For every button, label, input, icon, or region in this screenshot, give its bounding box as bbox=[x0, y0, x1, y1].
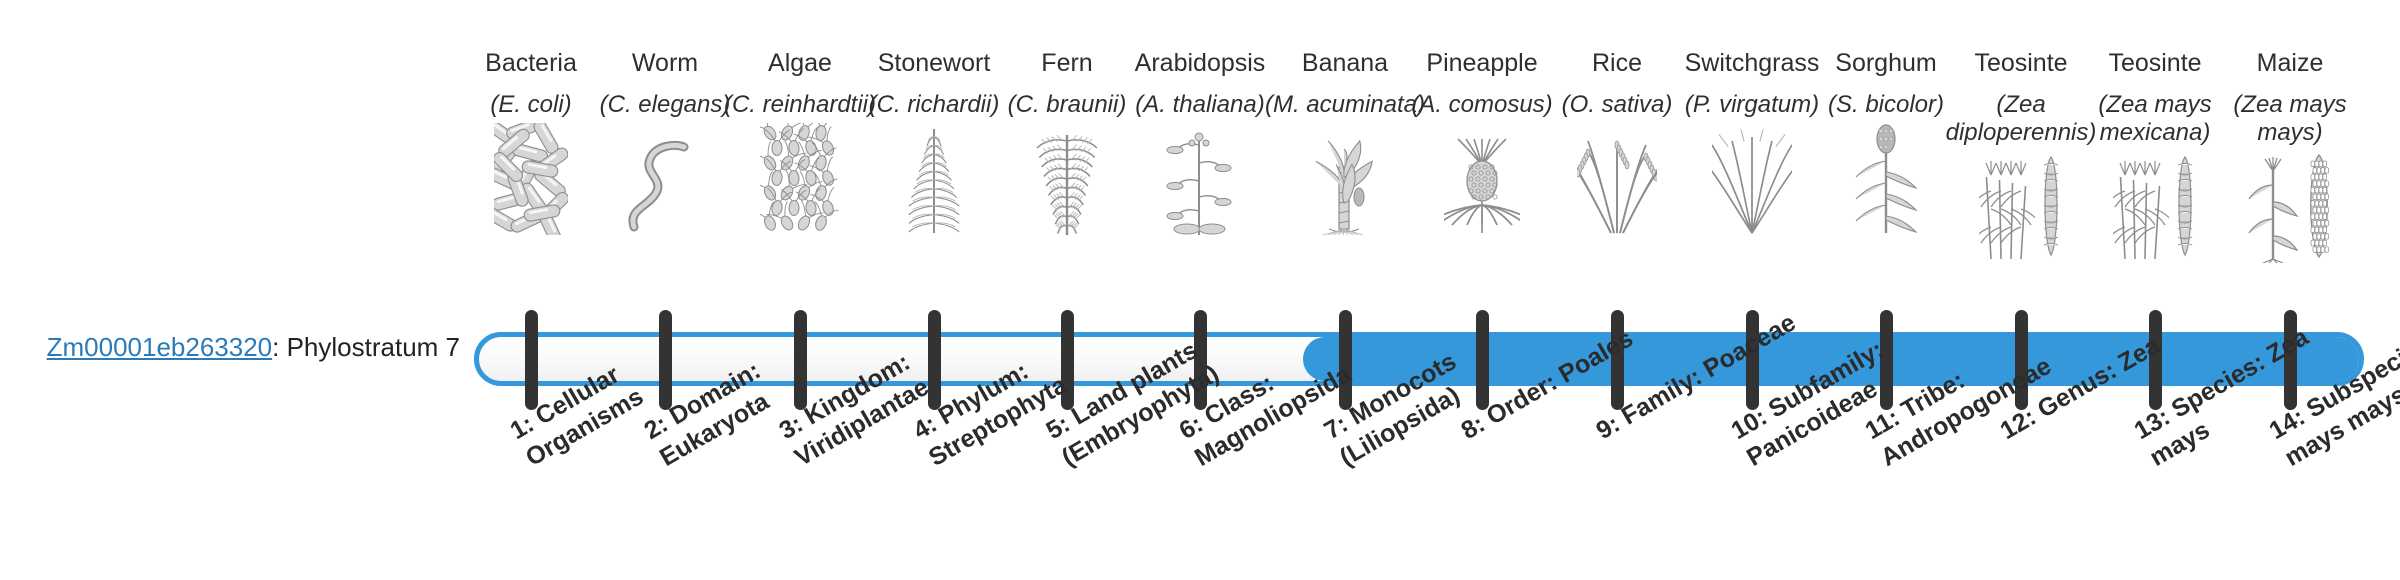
gene-id-link[interactable]: Zm00001eb263320 bbox=[47, 332, 273, 362]
species-common-name: Maize bbox=[2257, 48, 2324, 78]
species-common-name: Rice bbox=[1592, 48, 1642, 78]
species-scientific-name: (E. coli) bbox=[490, 91, 571, 119]
species-illustration-stonewort bbox=[904, 125, 964, 235]
species-common-name: Arabidopsis bbox=[1135, 48, 1266, 78]
species-common-name: Fern bbox=[1041, 48, 1092, 78]
species-illustration-fern bbox=[1027, 125, 1107, 235]
phylostratum-figure: Zm00001eb263320: Phylostratum 7 Bacteria… bbox=[0, 0, 2400, 580]
species-illustration-teosinte-pair bbox=[1979, 153, 2063, 263]
species-common-name: Banana bbox=[1302, 48, 1388, 78]
species-illustration-arabidopsis bbox=[1165, 125, 1235, 235]
species-illustration-teosinte-pair bbox=[2113, 153, 2197, 263]
species-illustration-worm bbox=[622, 125, 708, 235]
gene-caption: Zm00001eb263320: Phylostratum 7 bbox=[40, 331, 460, 363]
species-common-name: Stonewort bbox=[878, 48, 991, 78]
species-illustration-bacteria bbox=[494, 125, 568, 235]
species-scientific-name: (C. braunii) bbox=[1008, 91, 1127, 119]
species-illustration-banana bbox=[1299, 125, 1391, 235]
species-common-name: Bacteria bbox=[485, 48, 577, 78]
species-illustration-pineapple bbox=[1444, 125, 1520, 235]
species-scientific-name: (Zea mays mays) bbox=[2200, 91, 2380, 147]
species-common-name: Pineapple bbox=[1426, 48, 1537, 78]
species-common-name: Teosinte bbox=[1974, 48, 2067, 78]
species-common-name: Sorghum bbox=[1835, 48, 1936, 78]
species-illustration-switchgrass bbox=[1712, 125, 1792, 235]
species-scientific-name: (A. thaliana) bbox=[1135, 91, 1264, 119]
species-common-name: Teosinte bbox=[2108, 48, 2201, 78]
species-scientific-name: (S. bicolor) bbox=[1828, 91, 1944, 119]
node-tick-1 bbox=[525, 310, 538, 410]
species-illustration-algae bbox=[760, 125, 840, 235]
species-common-name: Algae bbox=[768, 48, 832, 78]
species-scientific-name: (O. sativa) bbox=[1562, 91, 1673, 119]
gene-caption-separator: : bbox=[272, 332, 286, 362]
phylostratum-value: Phylostratum 7 bbox=[287, 332, 460, 362]
species-illustration-sorghum bbox=[1848, 125, 1924, 235]
species-illustration-rice bbox=[1577, 125, 1657, 235]
species-header-row: Bacteria(E. coli) bbox=[466, 48, 2366, 308]
species-column: Maize(Zea mays mays) bbox=[2200, 48, 2380, 263]
species-common-name: Worm bbox=[632, 48, 698, 78]
species-illustration-maize-pair bbox=[2246, 153, 2334, 263]
